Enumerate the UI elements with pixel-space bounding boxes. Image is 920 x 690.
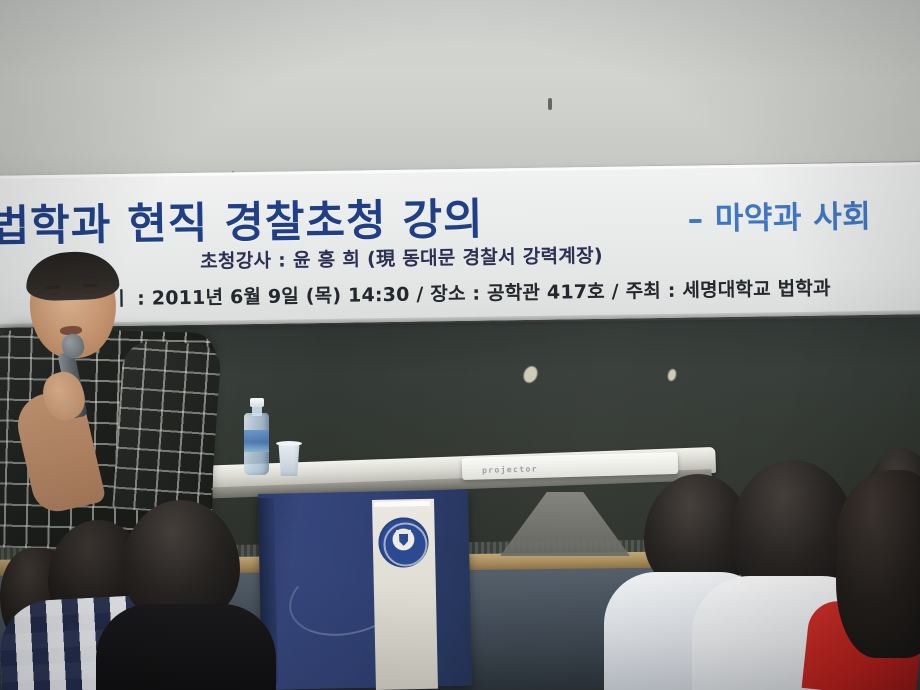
water-bottle-cap [250, 398, 264, 407]
banner-subtitle: – 마약과 사회 [687, 191, 871, 239]
lecture-photo: 법학과 현직 경찰초청 강의 – 마약과 사회 초청강사 : 윤 흥 희 (現 … [0, 0, 920, 690]
ceiling-speck-icon [548, 98, 552, 110]
speaker-right-shoulder [112, 339, 222, 515]
paper-cup-rim [276, 441, 302, 446]
audience-shirt [96, 604, 276, 690]
speaker-eyebrow-right [83, 284, 97, 287]
banner-speaker-line: 초청강사 : 윤 흥 희 (現 동대문 경찰서 강력계장) [200, 241, 603, 274]
paper-cup [277, 443, 301, 476]
event-banner: 법학과 현직 경찰초청 강의 – 마약과 사회 초청강사 : 윤 흥 희 (現 … [0, 162, 920, 328]
audience-head-long-hair [836, 470, 920, 658]
water-bottle-label [244, 430, 269, 452]
banner-text-area: 법학과 현직 경찰초청 강의 – 마약과 사회 초청강사 : 윤 흥 희 (現 … [0, 162, 920, 328]
banner-details-line: ㅣ : 2011년 6월 9일 (목) 14:30 / 장소 : 공학관 417… [112, 273, 830, 311]
